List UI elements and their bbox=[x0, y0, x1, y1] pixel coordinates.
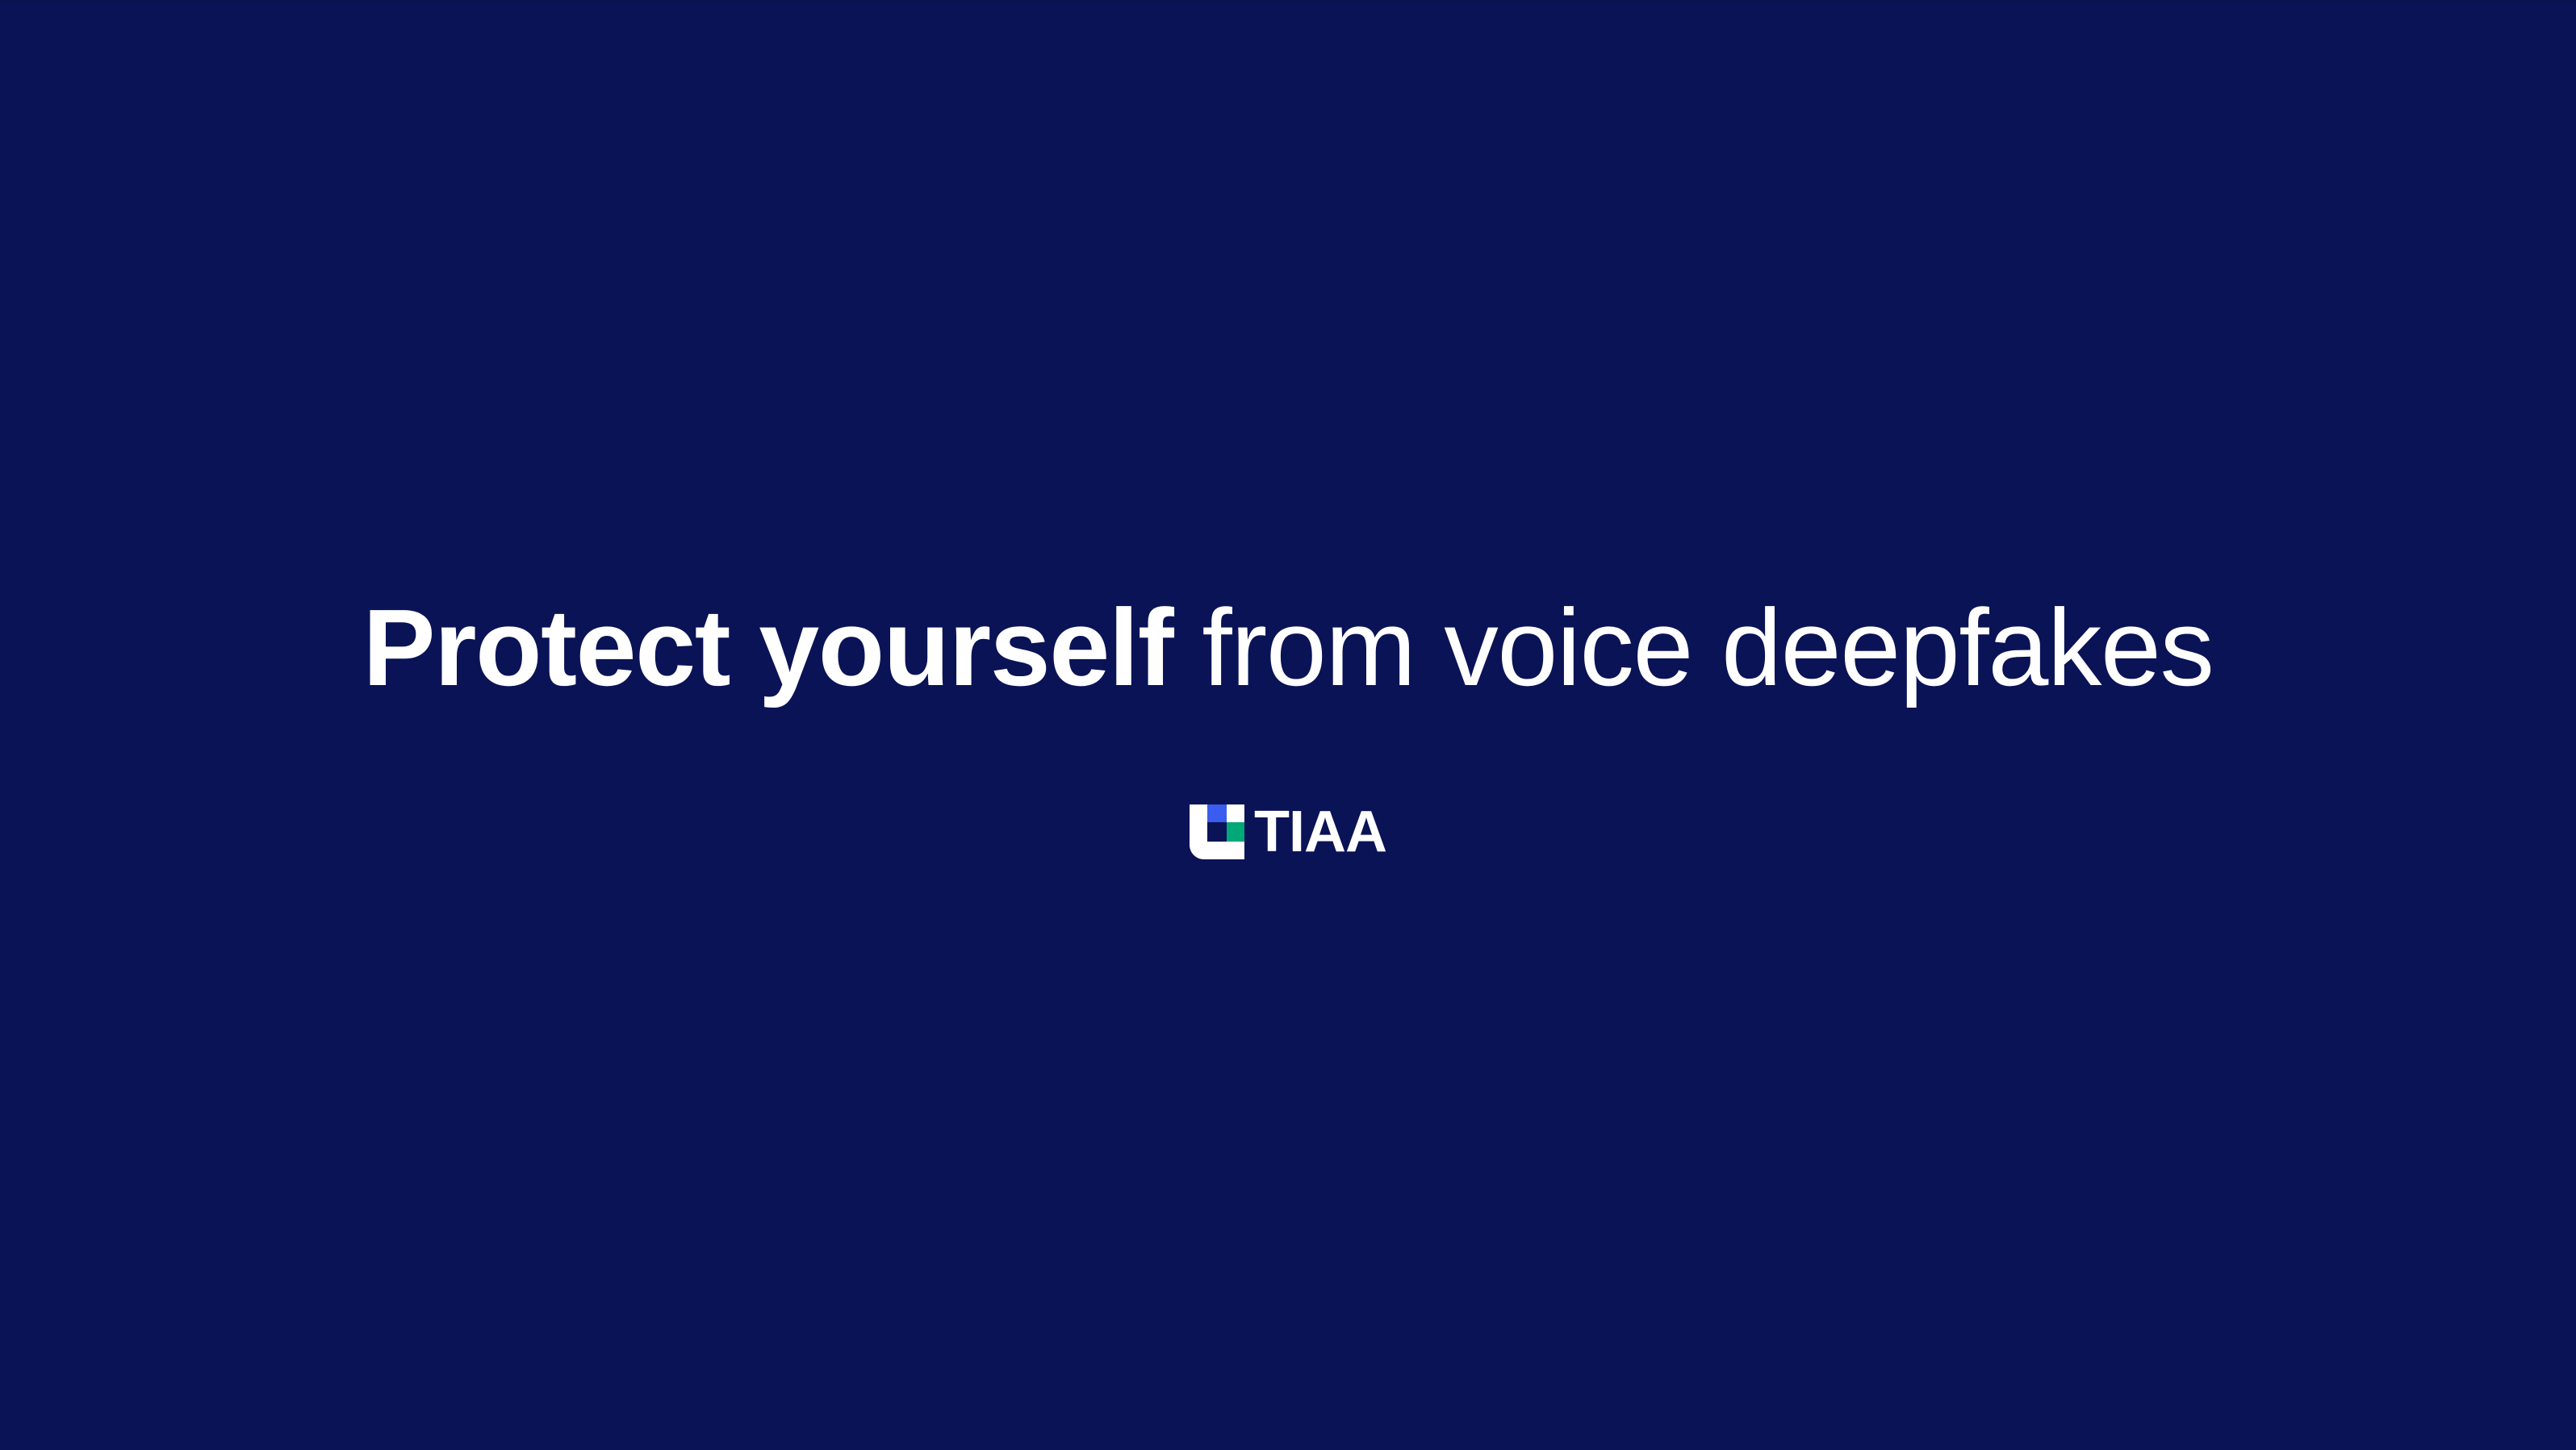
top-edge-band bbox=[0, 0, 2576, 4]
tiaa-wordmark: TIAA bbox=[1254, 804, 1386, 859]
headline-bold-segment: Protect yourself bbox=[363, 587, 1173, 708]
tiaa-logo-lockup: TIAA bbox=[0, 804, 2576, 859]
tiaa-logo-mark bbox=[1190, 804, 1244, 859]
page-title: Protect yourself from voice deepfakes bbox=[0, 593, 2576, 702]
headline-regular-segment: from voice deepfakes bbox=[1173, 587, 2213, 708]
slide-canvas: Protect yourself from voice deepfakes TI… bbox=[0, 0, 2576, 1450]
